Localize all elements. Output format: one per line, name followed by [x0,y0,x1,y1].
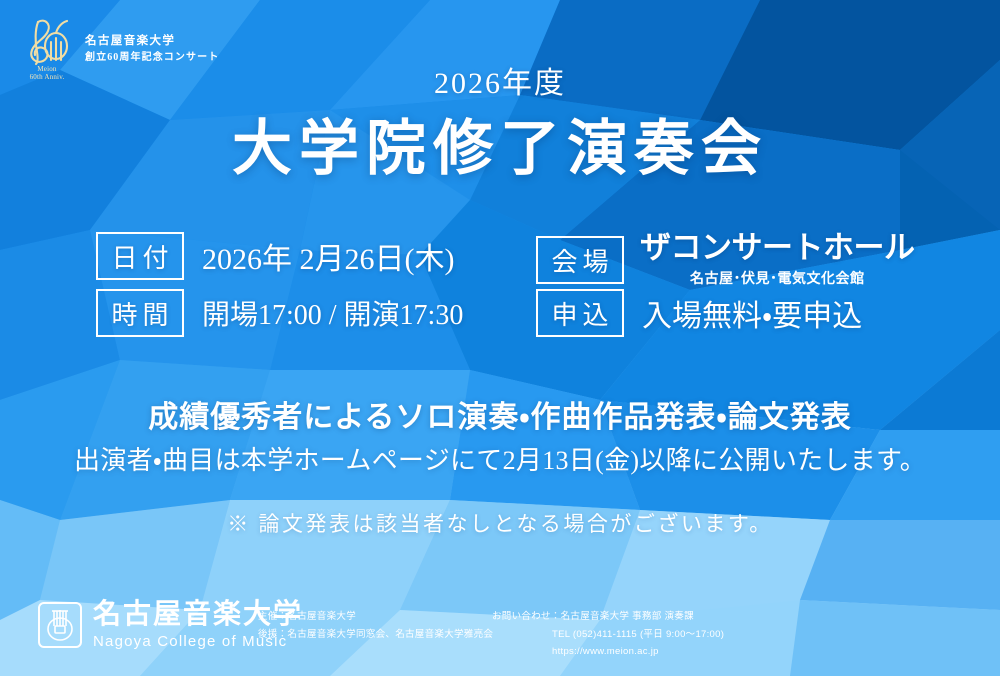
info-cell-venue: 会場 ザコンサートホール 名古屋･伏見･電気文化会館 [536,232,926,288]
apply-label-chip: 申込 [536,289,624,337]
date-value: 2026年 2月26日(木) [202,234,454,278]
info-row-time-apply: 時間 開場17:00 / 開演17:30 申込 入場無料・要申込 [96,289,926,346]
brand-university-name: 名古屋音楽大学 [85,33,219,50]
venue-wordmark: ザコンサートホール 名古屋･伏見･電気文化会館 [640,232,915,288]
contact-block: お問い合わせ：名古屋音楽大学 事務部 演奏課 TEL (052)411-1115… [492,608,724,661]
venue-label-chip: 会場 [536,236,624,284]
contact-line-1: お問い合わせ：名古屋音楽大学 事務部 演奏課 [492,608,724,626]
date-label-chip: 日付 [96,232,184,280]
lute-icon [38,602,82,648]
program-sub-text: 出演者・曲目は本学ホームページにて2月13日(金)以降に公開いたします。 [0,440,1000,477]
concert-poster: Meion 60th Anniv. 名古屋音楽大学 創立60周年記念コンサート … [0,0,1000,676]
info-cell-time: 時間 開場17:00 / 開演17:30 [96,289,536,337]
info-cell-date: 日付 2026年 2月26日(木) [96,232,536,280]
poster-footer: 名古屋音楽大学 Nagoya College of Music 主催：名古屋音楽… [0,594,1000,676]
time-label-chip: 時間 [96,289,184,337]
info-row-date-venue: 日付 2026年 2月26日(木) 会場 ザコンサートホール 名古屋･伏見･電気… [96,232,926,289]
event-info-grid: 日付 2026年 2月26日(木) 会場 ザコンサートホール 名古屋･伏見･電気… [96,232,926,346]
organizer-line: 主催：名古屋音楽大学 [258,608,493,626]
contact-phone: TEL (052)411-1115 (平日 9:00〜17:00) [492,626,724,644]
venue-subtitle: 名古屋･伏見･電気文化会館 [690,268,865,288]
apply-value: 入場無料・要申込 [642,291,862,335]
page-title: 大学院修了演奏会 [0,100,1000,187]
poster-year: 2026年度 [0,58,1000,102]
time-value: 開場17:00 / 開演17:30 [202,293,463,333]
support-line: 後援：名古屋音楽大学同窓会、名古屋音楽大学雅亮会 [258,626,493,644]
program-lead-text: 成績優秀者によるソロ演奏・作曲作品発表・論文発表 [0,392,1000,436]
contact-website[interactable]: https://www.meion.ac.jp [492,643,724,661]
info-cell-apply: 申込 入場無料・要申込 [536,289,926,337]
venue-name: ザコンサートホール [640,232,915,263]
program-note-text: ※ 論文発表は該当者なしとなる場合がございます。 [0,508,1000,538]
organizer-block: 主催：名古屋音楽大学 後援：名古屋音楽大学同窓会、名古屋音楽大学雅亮会 [258,608,493,643]
